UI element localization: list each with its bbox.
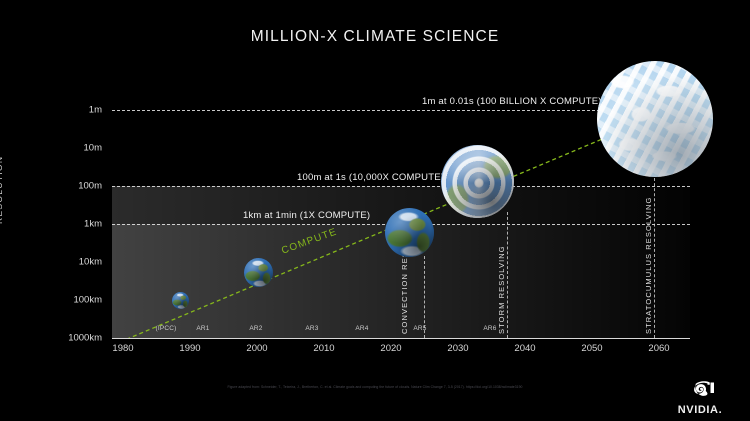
- milestone-label-storm: STORM RESOLVING: [497, 245, 506, 334]
- annotation-100m: 100m at 1s (10,000X COMPUTE): [297, 172, 444, 183]
- ar-label-ar6: AR6: [483, 325, 496, 332]
- x-tick-2060: 2060: [648, 343, 669, 354]
- milestone-label-stratocumulus: STRATOCUMULUS RESOLVING: [644, 197, 653, 334]
- y-tick-100m: 100m: [78, 181, 102, 192]
- x-tick-1980: 1980: [112, 343, 133, 354]
- y-tick-1000km: 1000km: [68, 333, 102, 344]
- ar-label-ar2: AR2: [249, 325, 262, 332]
- globe-marker-stratocumulus-resolving: [597, 61, 713, 177]
- figure-credit: Figure adapted from: Schneider, T., Teix…: [0, 385, 750, 389]
- annotation-1m: 1m at 0.01s (100 BILLION X COMPUTE): [422, 96, 602, 107]
- x-tick-2020: 2020: [380, 343, 401, 354]
- x-axis-line: [112, 338, 690, 339]
- globe-marker-ar6-convection: [385, 208, 434, 257]
- milestone-line-storm: [507, 212, 508, 338]
- milestone-line-stratocumulus: [654, 178, 655, 338]
- annotation-1km: 1km at 1min (1X COMPUTE): [243, 210, 370, 221]
- globe-marker-ar3: [244, 258, 273, 287]
- y-axis: 1m 10m 100m 1km 10km 100km 1000km: [0, 110, 108, 338]
- ar-label-ar4: AR4: [355, 325, 368, 332]
- x-tick-2010: 2010: [313, 343, 334, 354]
- x-tick-2000: 2000: [246, 343, 267, 354]
- slide-canvas: MILLION-X CLIMATE SCIENCE 1m 10m 100m 1k…: [0, 0, 750, 421]
- x-tick-2030: 2030: [447, 343, 468, 354]
- globe-marker-ar1: [172, 292, 189, 309]
- x-tick-1990: 1990: [179, 343, 200, 354]
- nvidia-wordmark: NVIDIA.: [666, 404, 734, 416]
- x-tick-2040: 2040: [514, 343, 535, 354]
- ar-label-ipcc: (IPCC): [155, 325, 176, 332]
- page-title: MILLION-X CLIMATE SCIENCE: [0, 28, 750, 46]
- nvidia-eye-icon: [683, 378, 717, 398]
- y-tick-10km: 10km: [79, 257, 102, 268]
- ar-label-ar5: AR5: [413, 325, 426, 332]
- globe-marker-storm-resolving: [441, 145, 514, 218]
- ar-label-ar1: AR1: [196, 325, 209, 332]
- y-tick-100km: 100km: [73, 295, 102, 306]
- y-axis-title: RESOLUTION: [0, 156, 4, 224]
- ar-label-ar3: AR3: [305, 325, 318, 332]
- nvidia-logo: NVIDIA.: [666, 378, 734, 416]
- y-tick-1m: 1m: [89, 105, 102, 116]
- x-tick-2050: 2050: [581, 343, 602, 354]
- y-tick-10m: 10m: [84, 143, 102, 154]
- reference-line-100m: [112, 186, 690, 187]
- y-tick-1km: 1km: [84, 219, 102, 230]
